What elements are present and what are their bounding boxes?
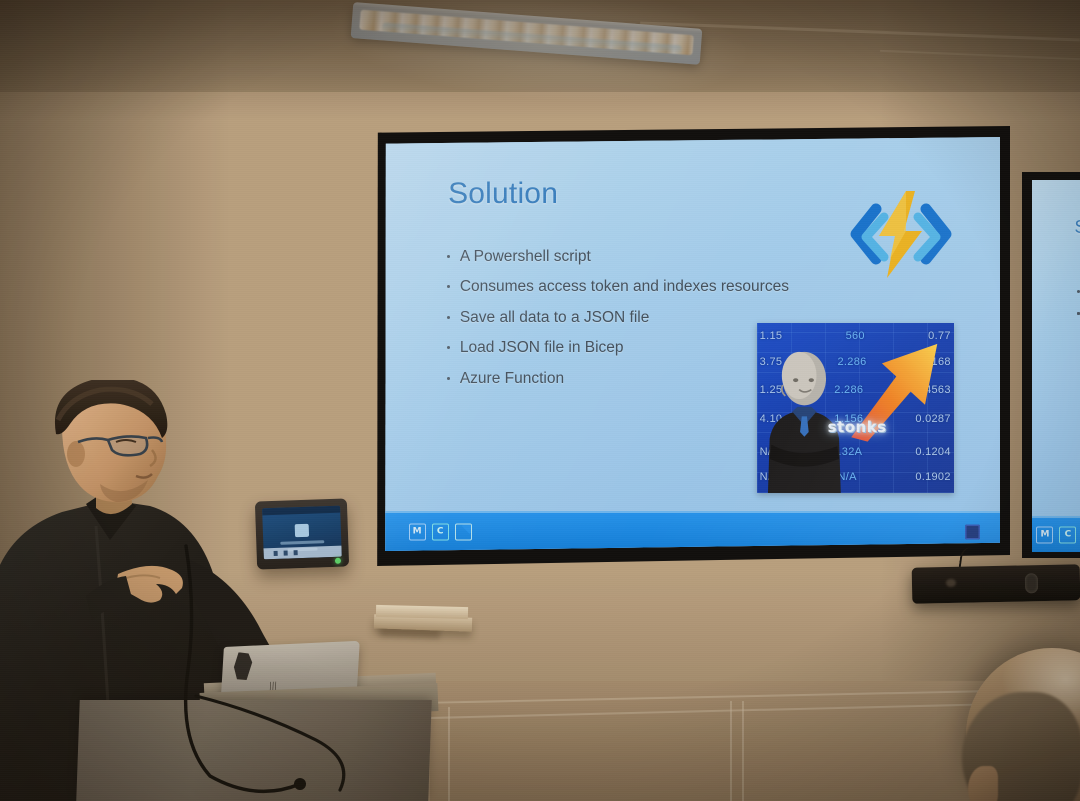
slide-title-secondary: Solution	[1075, 217, 1080, 238]
sponsor-badge	[965, 524, 980, 539]
sponsor-logo-m: M	[1036, 526, 1053, 543]
wall-display-primary[interactable]: Solution A Powershell script Consumes ac…	[374, 126, 1010, 566]
slide-title: Solution	[448, 177, 558, 211]
sponsor-logo-m: M	[409, 523, 426, 540]
screen-secondary: Solution M C	[1032, 180, 1080, 552]
footer-sponsor-logos: M C	[409, 523, 472, 540]
sponsor-logo-k	[455, 523, 472, 540]
ticker-cell: 1.15	[760, 330, 783, 342]
slide-footer-secondary: M C	[1032, 516, 1080, 552]
wall-shading-bottom	[0, 571, 1080, 801]
footer-logos-secondary: M C	[1036, 526, 1076, 543]
slide-footer-bar: M C	[384, 511, 1000, 551]
sponsor-logo-c: C	[1059, 526, 1076, 543]
screen-primary: Solution A Powershell script Consumes ac…	[384, 137, 1000, 551]
ticker-cell: 0.1902	[915, 471, 950, 483]
stonks-meme-image: 1.15 560 0.77 3.75 2.286 0.168 1.25 2.28…	[757, 323, 954, 493]
presentation-room-photo: Solution M C	[0, 0, 1080, 801]
presentation-slide: Solution A Powershell script Consumes ac…	[384, 137, 1000, 551]
stonks-label: stonks	[828, 418, 887, 436]
bullet-item-1: A Powershell script	[447, 249, 878, 265]
bullet-item-2: Consumes access token and indexes resour…	[447, 279, 878, 295]
wall-display-secondary[interactable]: Solution M C	[1022, 172, 1080, 558]
ticker-cell: 0.1204	[915, 446, 950, 458]
azure-functions-logo	[846, 187, 956, 282]
slide-secondary: Solution M C	[1032, 180, 1080, 552]
sponsor-logo-c: C	[432, 523, 449, 540]
